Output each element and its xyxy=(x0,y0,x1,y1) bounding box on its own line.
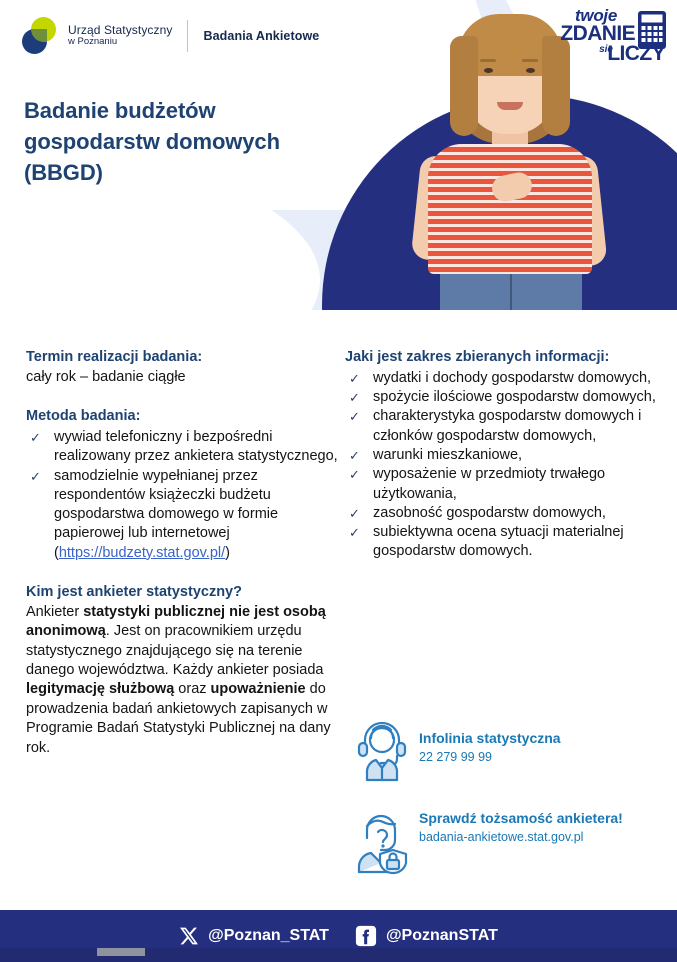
para-part-1: Ankieter xyxy=(26,604,83,620)
hair-left xyxy=(450,36,478,136)
campaign-slogan: twoje ZDANIE się LICZY xyxy=(539,6,669,62)
contact-text: Sprawdź tożsamość ankietera! badania-ank… xyxy=(419,808,623,845)
eye-right xyxy=(526,68,535,73)
check-icon: ✓ xyxy=(30,468,41,485)
interviewer-paragraph: Ankieter statystyki publicznej nie jest … xyxy=(26,603,338,758)
check-icon: ✓ xyxy=(30,429,41,446)
section-method: Metoda badania: ✓ wywiad telefoniczny i … xyxy=(26,407,338,563)
footer-facebook-account[interactable]: @PoznanSTAT xyxy=(355,925,498,947)
logo-subtitle: Badania Ankietowe xyxy=(204,29,320,43)
list-item: ✓spożycie ilościowe gospodarstw domowych… xyxy=(345,388,665,407)
logo-org-line1: Urząd Statystyczny xyxy=(68,24,173,38)
list-item-label: samodzielnie wypełnianej przez responden… xyxy=(54,468,278,542)
footer-x-account[interactable]: @Poznan_STAT xyxy=(179,926,329,946)
striped-shirt xyxy=(428,144,592,274)
para-bold-3: upoważnienie xyxy=(211,681,306,697)
check-icon: ✓ xyxy=(349,408,360,425)
gus-circles-icon xyxy=(20,16,60,56)
contact-title: Sprawdź tożsamość ankietera! xyxy=(419,810,623,827)
list-item: ✓wydatki i dochody gospodarstw domowych, xyxy=(345,369,665,388)
interviewer-heading: Kim jest ankieter statystyczny? xyxy=(26,583,338,602)
list-item: ✓charakterystyka gospodarstw domowych i … xyxy=(345,407,665,446)
section-term: Termin realizacji badania: cały rok – ba… xyxy=(26,348,338,387)
contact-text: Infolinia statystyczna 22 279 99 99 xyxy=(419,718,561,765)
logo-text: Urząd Statystyczny w Poznaniu xyxy=(68,24,173,49)
budzety-link[interactable]: https://budzety.stat.gov.pl/ xyxy=(59,545,225,561)
contact-phone[interactable]: 22 279 99 99 xyxy=(419,749,561,765)
check-icon: ✓ xyxy=(349,370,360,387)
url-close-paren: ) xyxy=(225,545,230,561)
list-item-label: subiektywna ocena sytuacji materialnej g… xyxy=(373,524,624,559)
list-item: ✓subiektywna ocena sytuacji materialnej … xyxy=(345,523,665,562)
eyebrow-right xyxy=(522,59,538,62)
list-item-label: wyposażenie w przedmioty trwałego użytko… xyxy=(373,466,605,501)
left-column: Termin realizacji badania: cały rok – ba… xyxy=(26,348,338,758)
right-column: Jaki jest zakres zbieranych informacji: … xyxy=(345,348,665,562)
list-item-label: wydatki i dochody gospodarstw domowych, xyxy=(373,370,651,386)
headset-operator-icon xyxy=(345,718,419,790)
contact-hotline: Infolinia statystyczna 22 279 99 99 xyxy=(345,718,665,790)
list-item-label: charakterystyka gospodarstw domowych i c… xyxy=(373,408,641,443)
logo-divider xyxy=(187,20,188,52)
contact-blocks: Infolinia statystyczna 22 279 99 99 xyxy=(345,718,665,898)
list-item-label: zasobność gospodarstw domowych, xyxy=(373,505,606,521)
spacer xyxy=(26,387,338,407)
list-item: ✓ wywiad telefoniczny i bezpośredni real… xyxy=(26,428,338,467)
slogan-word-liczy: LICZY xyxy=(607,42,665,66)
list-item-label: warunki mieszkaniowe, xyxy=(373,447,522,463)
poster-root: Urząd Statystyczny w Poznaniu Badania An… xyxy=(0,0,677,962)
eye-left xyxy=(484,68,493,73)
eyebrow-left xyxy=(480,59,496,62)
check-icon: ✓ xyxy=(349,447,360,464)
statistical-office-logo: Urząd Statystyczny w Poznaniu Badania An… xyxy=(20,16,319,56)
term-heading: Termin realizacji badania: xyxy=(26,348,338,367)
check-icon: ✓ xyxy=(349,524,360,541)
identity-verify-icon xyxy=(345,808,419,880)
page-title: Badanie budżetów gospodarstw domowych (B… xyxy=(24,95,354,189)
contact-verify-identity: Sprawdź tożsamość ankietera! badania-ank… xyxy=(345,808,665,880)
spacer xyxy=(26,563,338,583)
term-text: cały rok – badanie ciągłe xyxy=(26,368,338,387)
header-banner: Urząd Statystyczny w Poznaniu Badania An… xyxy=(0,0,677,310)
logo-org-line2: w Poznaniu xyxy=(68,37,173,48)
para-part-3: oraz xyxy=(174,681,210,697)
para-bold-2: legitymację służbową xyxy=(26,681,174,697)
method-heading: Metoda badania: xyxy=(26,407,338,426)
method-list: ✓ wywiad telefoniczny i bezpośredni real… xyxy=(26,428,338,563)
list-item: ✓zasobność gospodarstw domowych, xyxy=(345,504,665,523)
check-icon: ✓ xyxy=(349,505,360,522)
list-item: ✓warunki mieszkaniowe, xyxy=(345,446,665,465)
x-twitter-icon xyxy=(179,926,199,946)
footer-facebook-handle: @PoznanSTAT xyxy=(386,927,498,945)
scope-heading: Jaki jest zakres zbieranych informacji: xyxy=(345,348,665,367)
list-item: ✓ samodzielnie wypełnianej przez respond… xyxy=(26,467,338,563)
footer-x-handle: @Poznan_STAT xyxy=(208,927,329,945)
scope-list: ✓wydatki i dochody gospodarstw domowych,… xyxy=(345,369,665,562)
list-item-label: wywiad telefoniczny i bezpośredni realiz… xyxy=(54,429,338,464)
contact-url[interactable]: badania-ankietowe.stat.gov.pl xyxy=(419,829,623,845)
check-icon: ✓ xyxy=(349,466,360,483)
list-item-label: spożycie ilościowe gospodarstw domowych, xyxy=(373,389,656,405)
facebook-icon xyxy=(355,925,377,947)
check-icon: ✓ xyxy=(349,389,360,406)
contact-title: Infolinia statystyczna xyxy=(419,730,561,747)
footer-gray-chip xyxy=(97,948,145,956)
shirt-stripes xyxy=(428,144,592,274)
mouth xyxy=(497,102,523,110)
section-interviewer: Kim jest ankieter statystyczny? Ankieter… xyxy=(26,583,338,758)
list-item: ✓wyposażenie w przedmioty trwałego użytk… xyxy=(345,465,665,504)
